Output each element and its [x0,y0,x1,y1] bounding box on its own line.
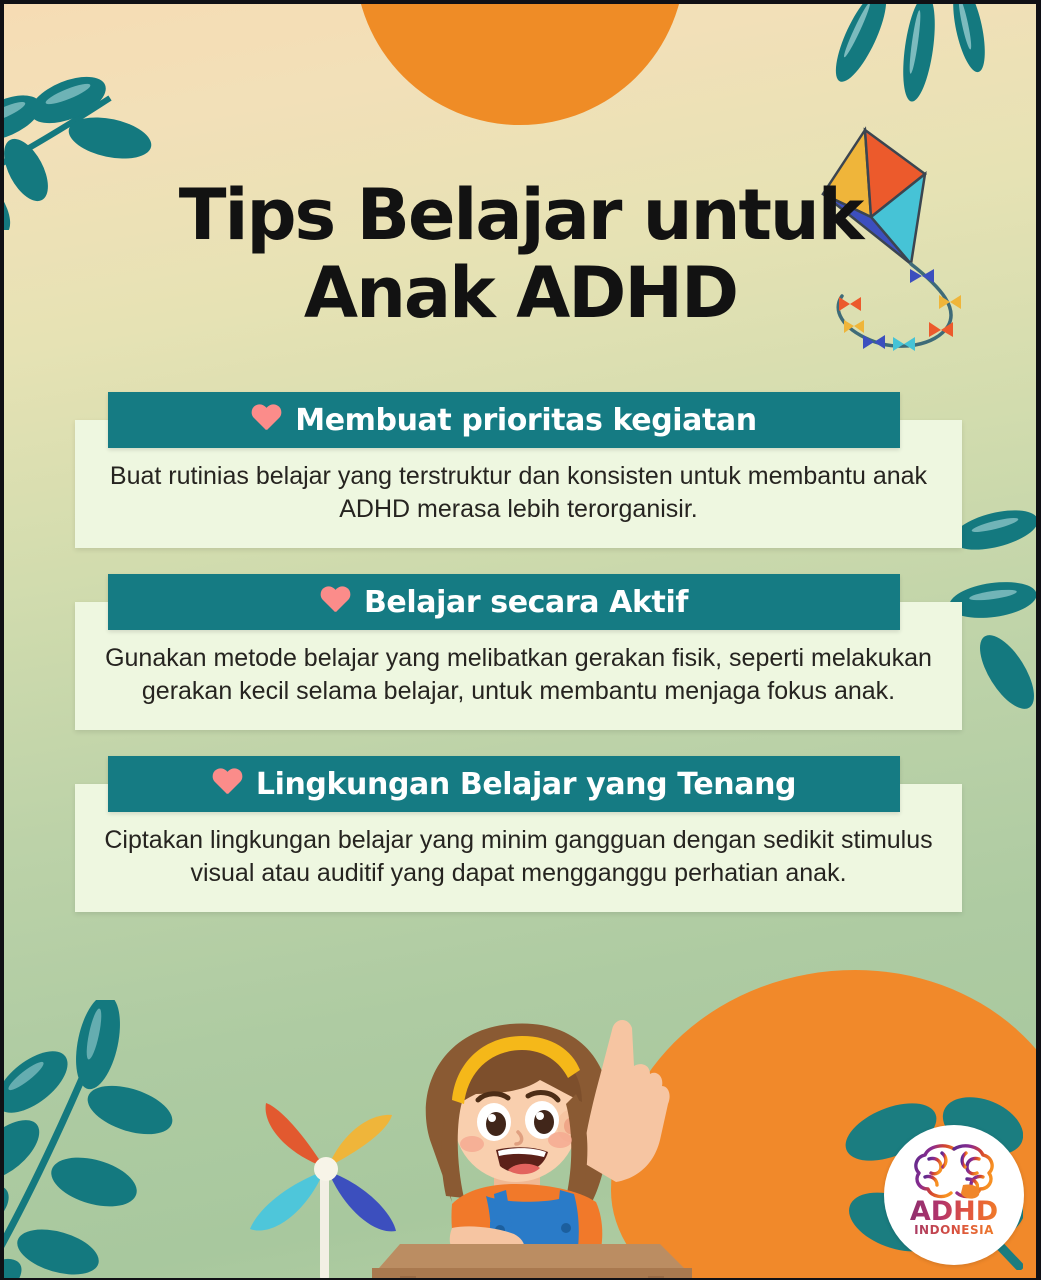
heart-icon [320,587,350,615]
tip-heading: Lingkungan Belajar yang Tenang [256,767,796,802]
tip-card-header: Belajar secara Aktif [108,574,900,630]
tip-card: Lingkungan Belajar yang Tenang Ciptakan … [0,756,1041,912]
title-line-2: Anak ADHD [0,254,1041,332]
orange-circle-shape [355,0,685,125]
tip-card-header: Lingkungan Belajar yang Tenang [108,756,900,812]
logo-subtitle: INDONESIA [914,1223,994,1237]
logo-badge[interactable]: ADHD INDONESIA [884,1125,1024,1265]
heart-icon [251,405,281,433]
tips-list: Membuat prioritas kegiatan Buat rutinias… [0,392,1041,938]
tip-heading: Membuat prioritas kegiatan [295,403,757,438]
title-line-1: Tips Belajar untuk [179,174,863,256]
tip-card-header: Membuat prioritas kegiatan [108,392,900,448]
heart-icon [212,769,242,797]
brain-icon [911,1141,997,1203]
page-title: Tips Belajar untuk Anak ADHD [0,176,1041,332]
tip-heading: Belajar secara Aktif [364,585,688,620]
logo-name: ADHD [910,1199,998,1225]
infographic-poster: Tips Belajar untuk Anak ADHD Membuat pri… [0,0,1041,1280]
tip-card: Membuat prioritas kegiatan Buat rutinias… [0,392,1041,548]
tip-card: Belajar secara Aktif Gunakan metode bela… [0,574,1041,730]
girl-raising-hand-illustration [0,990,1041,1280]
